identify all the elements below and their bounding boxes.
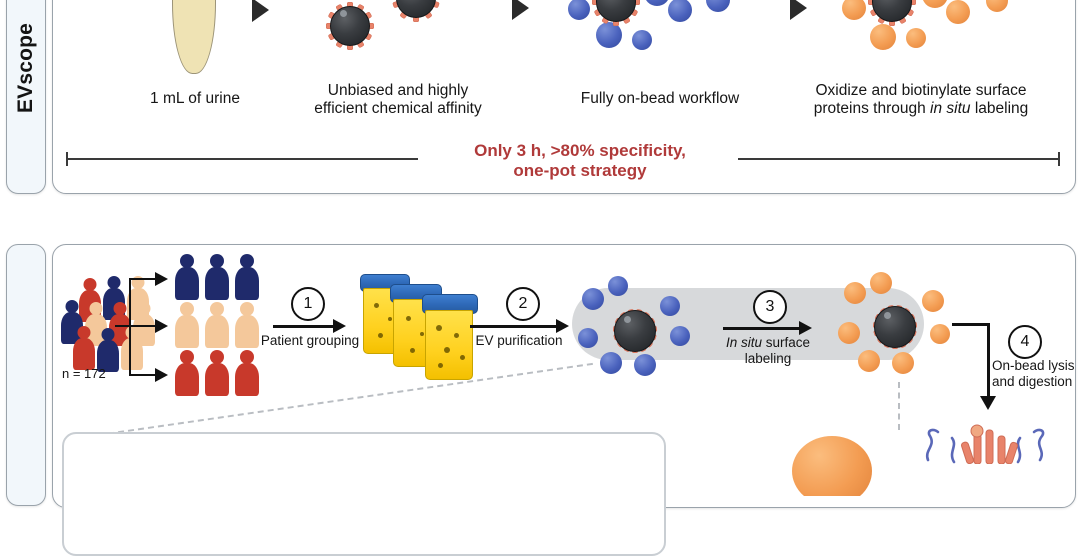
step-3-label-line2: labeling bbox=[712, 351, 824, 367]
step-4-arrow-vertical bbox=[987, 323, 990, 399]
step-4-label-line2: and digestion bbox=[992, 374, 1078, 390]
magnetic-bead-icon bbox=[378, 0, 454, 36]
step-1-badge: 1 bbox=[291, 287, 325, 321]
caption-affinity-line1: Unbiased and highly bbox=[288, 82, 508, 100]
step-2-label: EV purification bbox=[466, 333, 572, 349]
step-4-label-line1: On-bead lysis bbox=[992, 358, 1078, 374]
fork-arrowhead-top-icon bbox=[155, 272, 168, 286]
group-navy-icon bbox=[174, 254, 264, 300]
highlight-text: Only 3 h, >80% specificity, one-pot stra… bbox=[400, 141, 760, 182]
bottom-bead-orange-icon bbox=[838, 272, 956, 376]
step-4-label: On-bead lysis and digestion bbox=[992, 358, 1078, 389]
step-2-arrow-shaft bbox=[470, 325, 558, 328]
caption-affinity: Unbiased and highly efficient chemical a… bbox=[288, 82, 508, 119]
step-2-badge: 2 bbox=[506, 287, 540, 321]
highlight-line1: Only 3 h, >80% specificity, bbox=[400, 141, 760, 161]
leader-dash-right bbox=[898, 382, 900, 430]
caption-oxidize-line2: proteins through in situ labeling bbox=[776, 100, 1066, 118]
caption-affinity-line2: efficient chemical affinity bbox=[288, 100, 508, 118]
group-tan-icon bbox=[174, 302, 264, 348]
step-1-arrowhead-icon bbox=[333, 319, 346, 333]
caption-oxidize-line1: Oxidize and biotinylate surface bbox=[776, 82, 1066, 100]
fork-branch-top bbox=[129, 278, 157, 280]
caption-oxidize: Oxidize and biotinylate surface proteins… bbox=[776, 82, 1066, 119]
cohort-size-label: n = 172 bbox=[62, 366, 106, 381]
fork-arrowhead-bot-icon bbox=[155, 368, 168, 382]
step-3-badge: 3 bbox=[753, 290, 787, 324]
fork-branch-bot bbox=[129, 374, 157, 376]
step-3-label-line1: In situ surface bbox=[712, 335, 824, 351]
bead-with-blue-vesicles-icon bbox=[560, 0, 760, 64]
step-4-arrow-horizontal bbox=[952, 323, 990, 326]
urine-cups-icon bbox=[360, 268, 500, 372]
fork-arrowhead-mid-icon bbox=[155, 319, 168, 333]
span-bracket-right bbox=[738, 158, 1060, 160]
inset-bead-icon bbox=[786, 436, 882, 496]
top-arrow-3-icon bbox=[790, 0, 807, 20]
top-arrow-1-icon bbox=[252, 0, 269, 22]
step-4-badge: 4 bbox=[1008, 325, 1042, 359]
panel-top-side-tab: EVscope bbox=[6, 0, 46, 194]
panel-top-side-label: EVscope bbox=[14, 23, 38, 113]
inset-panel bbox=[62, 432, 666, 556]
panel-bottom-side-tab bbox=[6, 244, 46, 506]
digested-peptides-icon bbox=[914, 424, 1074, 464]
step-3-arrowhead-icon bbox=[799, 321, 812, 335]
top-arrow-2-icon bbox=[512, 0, 529, 20]
bottom-bead-blue-icon bbox=[578, 276, 696, 376]
centrifuge-tube-icon bbox=[172, 0, 218, 82]
step-3-arrow-shaft bbox=[723, 327, 801, 330]
highlight-line2: one-pot strategy bbox=[400, 161, 760, 181]
in-situ-emphasis: in situ bbox=[930, 100, 971, 117]
step-1-label: Patient grouping bbox=[258, 333, 362, 349]
figure-canvas: EVscope 1 mL of urine bbox=[0, 0, 1080, 459]
fork-branch-mid bbox=[115, 325, 157, 327]
step-3-label: In situ surface labeling bbox=[712, 335, 824, 366]
magnetic-bead-icon bbox=[312, 0, 388, 64]
span-bracket-left bbox=[66, 158, 418, 160]
step-1-arrow-shaft bbox=[273, 325, 335, 328]
patient-cohort-icon bbox=[58, 272, 168, 372]
group-red-icon bbox=[174, 350, 264, 396]
caption-tube: 1 mL of urine bbox=[95, 90, 295, 108]
caption-onbead: Fully on-bead workflow bbox=[540, 90, 780, 108]
step-4-arrowhead-icon bbox=[980, 396, 996, 410]
step-2-arrowhead-icon bbox=[556, 319, 569, 333]
bead-with-orange-vesicles-icon bbox=[836, 0, 1036, 64]
fork-vertical bbox=[129, 278, 131, 376]
in-situ-emphasis-step3: In situ bbox=[726, 335, 762, 350]
peptide-svg bbox=[914, 424, 1074, 464]
